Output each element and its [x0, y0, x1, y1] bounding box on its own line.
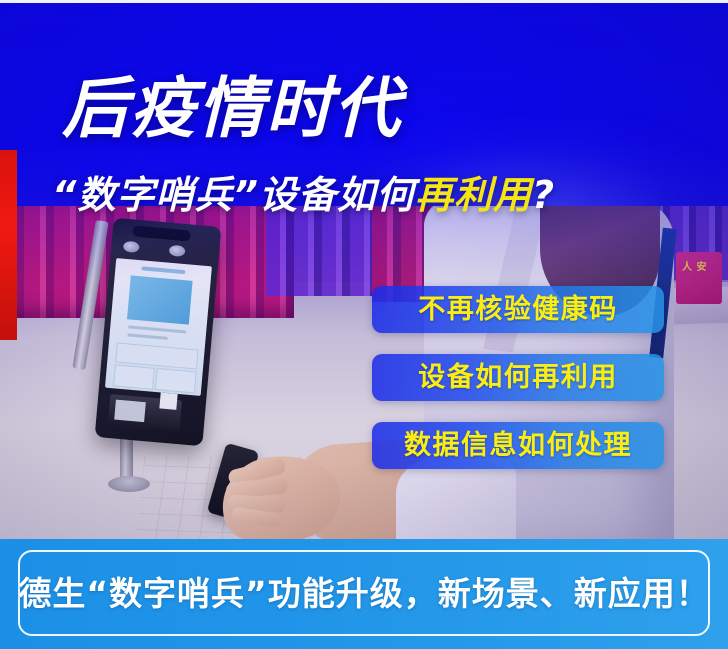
- kiosk-base: [108, 476, 150, 492]
- subtitle-question-mark: ?: [532, 173, 555, 217]
- kiosk-screen-text-line: [128, 325, 186, 333]
- feature-pill-label: 不再核验健康码: [418, 296, 618, 323]
- subtitle-highlight: 再利用: [415, 173, 532, 217]
- kiosk-screen: [105, 258, 212, 396]
- kiosk-reader-label: [114, 400, 146, 423]
- page-title: 后疫情时代: [62, 76, 402, 142]
- kiosk-screen-button: [113, 364, 155, 389]
- top-edge-strip: [0, 0, 728, 3]
- bottom-banner-frame: 德生“数字哨兵”功能升级，新场景、新应用！: [18, 550, 710, 636]
- kiosk-screen-button: [155, 368, 197, 393]
- bottom-banner-text: 德生“数字哨兵”功能升级，新场景、新应用！: [18, 577, 709, 610]
- feature-pill-2[interactable]: 设备如何再利用: [372, 354, 664, 401]
- feature-pill-label: 数据信息如何处理: [404, 432, 632, 459]
- kiosk-camera-left: [123, 241, 140, 253]
- promo-poster: 人 安 后疫情时代 “数字哨兵”设备如何再利用? 不再核验健康码 设备如何再利用…: [0, 0, 728, 649]
- kiosk-terminal: [95, 218, 222, 447]
- feature-pill-list: 不再核验健康码 设备如何再利用 数据信息如何处理: [372, 286, 664, 490]
- kiosk-indicator-chip: [159, 392, 177, 409]
- subtitle-prefix: “数字哨兵”设备如何: [52, 173, 415, 217]
- kiosk-camera-right: [169, 245, 186, 257]
- kiosk-screen-code-block: [127, 275, 193, 324]
- kiosk-top-sensor-bar: [132, 225, 191, 241]
- kiosk-screen-header: [141, 266, 185, 274]
- feature-pill-label: 设备如何再利用: [418, 364, 618, 391]
- feature-pill-3[interactable]: 数据信息如何处理: [372, 422, 664, 469]
- barrier-fence-midleft: [266, 206, 386, 296]
- kiosk-screen-text-line: [128, 333, 168, 339]
- feature-pill-1[interactable]: 不再核验健康码: [372, 286, 664, 333]
- id-badge-text: 人 安: [682, 258, 707, 273]
- left-red-strip: [0, 150, 17, 340]
- bottom-banner: 德生“数字哨兵”功能升级，新场景、新应用！: [0, 539, 728, 649]
- page-subtitle: “数字哨兵”设备如何再利用?: [52, 176, 555, 214]
